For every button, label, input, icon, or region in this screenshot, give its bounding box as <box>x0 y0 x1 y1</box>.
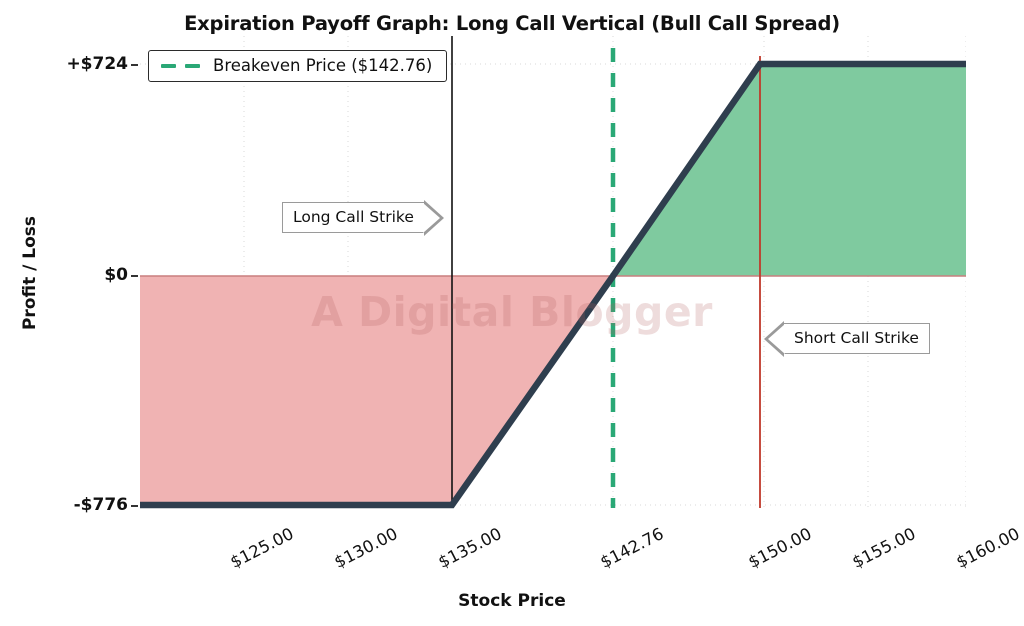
x-tick-label-150: $150.00 <box>699 524 815 595</box>
x-tick-label-130: $130.00 <box>285 524 401 595</box>
long-call-strike-annotation-label: Long Call Strike <box>293 208 414 226</box>
long-call-strike-annotation-body: Long Call Strike <box>282 202 424 233</box>
y-tick-mark-max-loss <box>131 505 138 507</box>
x-tick-label-142: $142.76 <box>551 524 667 595</box>
short-call-strike-annotation-label: Short Call Strike <box>794 329 919 347</box>
legend-dashed-line-swatch <box>161 64 203 68</box>
short-call-strike-annotation: Short Call Strike <box>784 323 930 354</box>
chart-title: Expiration Payoff Graph: Long Call Verti… <box>0 12 1024 35</box>
plot-area <box>140 36 966 511</box>
x-axis-title: Stock Price <box>0 591 1024 611</box>
x-tick-label-125: $125.00 <box>181 524 297 595</box>
chart-legend: Breakeven Price ($142.76) <box>148 50 447 82</box>
profit-shaded-region <box>613 64 966 276</box>
x-tick-label-155: $155.00 <box>803 524 919 595</box>
arrow-right-icon <box>424 200 444 236</box>
y-tick-mark-zero <box>131 275 138 277</box>
y-tick-label-max-loss: -$776 <box>0 495 128 515</box>
loss-shaded-region <box>140 276 613 505</box>
arrow-left-icon <box>764 321 784 357</box>
y-tick-label-zero: $0 <box>0 265 128 285</box>
y-tick-mark-max-profit <box>131 64 138 66</box>
payoff-chart-figure: Expiration Payoff Graph: Long Call Verti… <box>0 0 1024 626</box>
x-tick-label-160: $160.00 <box>907 524 1023 595</box>
x-tick-label-135: $135.00 <box>389 524 505 595</box>
y-tick-label-max-profit: +$724 <box>0 54 128 74</box>
short-call-strike-annotation-body: Short Call Strike <box>784 323 930 354</box>
payoff-plot-svg <box>140 36 966 511</box>
legend-entry-label: Breakeven Price ($142.76) <box>213 56 432 75</box>
long-call-strike-annotation: Long Call Strike <box>282 202 424 233</box>
